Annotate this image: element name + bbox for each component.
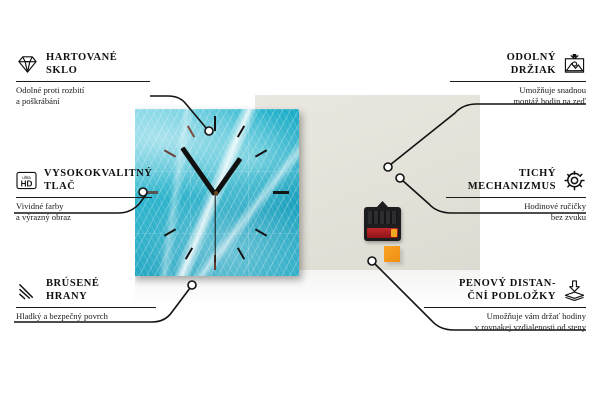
feature-head: TICHÝ MECHANIZMUS — [446, 168, 586, 193]
feature-title: ODOLNÝ DRŽIAK — [507, 52, 556, 77]
feature-divider — [446, 197, 586, 198]
feature-title: PENOVÝ DISTAN- ČNÍ PODLOŽKY — [459, 278, 556, 303]
feature-divider — [424, 307, 586, 308]
feature-divider — [450, 81, 586, 82]
hour-tick-3 — [273, 191, 289, 194]
feature-head: HARTOVANÉ SKLO — [16, 52, 150, 77]
feature-description: Umožňuje vám držať hodiny v rovnakej vzd… — [424, 311, 586, 333]
foam-spacer-pad — [384, 246, 400, 262]
feature-brusene-hrany: BRÚSENÉ HRANY Hladký a bezpečný povrch — [16, 278, 156, 322]
wall-clock — [135, 109, 299, 276]
second-hand — [214, 193, 215, 263]
feature-divider — [16, 307, 156, 308]
feature-title: HARTOVANÉ SKLO — [46, 52, 117, 77]
feature-tichy-mechanizmus: TICHÝ MECHANIZMUS Hodinové ručičky bez z… — [446, 168, 586, 223]
feature-head: PENOVÝ DISTAN- ČNÍ PODLOŽKY — [424, 278, 586, 303]
feature-description: Odolné proti rozbití a poškrábání — [16, 85, 150, 107]
feature-divider — [16, 197, 152, 198]
feature-vysokokvalitny-tlac: ultra HD VYSOKOKVALITNÝ TLAČ Vividné far… — [16, 168, 152, 223]
beveled-edge-icon — [16, 280, 39, 301]
feature-description: Hladký a bezpečný povrch — [16, 311, 156, 322]
clock-center-pin — [214, 191, 218, 195]
picture-frame-hanger-icon — [563, 54, 586, 75]
feature-title: BRÚSENÉ HRANY — [46, 278, 99, 303]
feature-divider — [16, 81, 150, 82]
battery — [367, 228, 398, 238]
feature-head: BRÚSENÉ HRANY — [16, 278, 156, 303]
clock-mechanism — [364, 207, 401, 241]
feature-odolny-drziak: ODOLNÝ DRŽIAK Umožňuje snadnou montáž ho… — [450, 52, 586, 107]
mechanism-vents — [368, 211, 397, 224]
feature-penove-distancni-podlozky: PENOVÝ DISTAN- ČNÍ PODLOŽKY Umožňuje vám… — [424, 278, 586, 333]
feature-head: ODOLNÝ DRŽIAK — [450, 52, 586, 77]
feature-head: ultra HD VYSOKOKVALITNÝ TLAČ — [16, 168, 152, 193]
feature-title: VYSOKOKVALITNÝ TLAČ — [44, 168, 152, 193]
hour-tick-12 — [214, 116, 216, 131]
ultra-hd-icon: ultra HD — [16, 171, 37, 190]
svg-text:HD: HD — [21, 179, 33, 188]
press-down-layers-icon — [563, 280, 586, 301]
feature-description: Umožňuje snadnou montáž hodin na zeď — [450, 85, 586, 107]
diamond-icon — [16, 54, 39, 75]
infographic-stage: HARTOVANÉ SKLO Odolné proti rozbití a po… — [0, 0, 600, 400]
feature-hartovane-sklo: HARTOVANÉ SKLO Odolné proti rozbití a po… — [16, 52, 150, 107]
gear-icon — [563, 170, 586, 191]
feature-title: TICHÝ MECHANIZMUS — [468, 168, 556, 193]
feature-description: Vividné farby a výrazný obraz — [16, 201, 152, 223]
feature-description: Hodinové ručičky bez zvuku — [446, 201, 586, 223]
